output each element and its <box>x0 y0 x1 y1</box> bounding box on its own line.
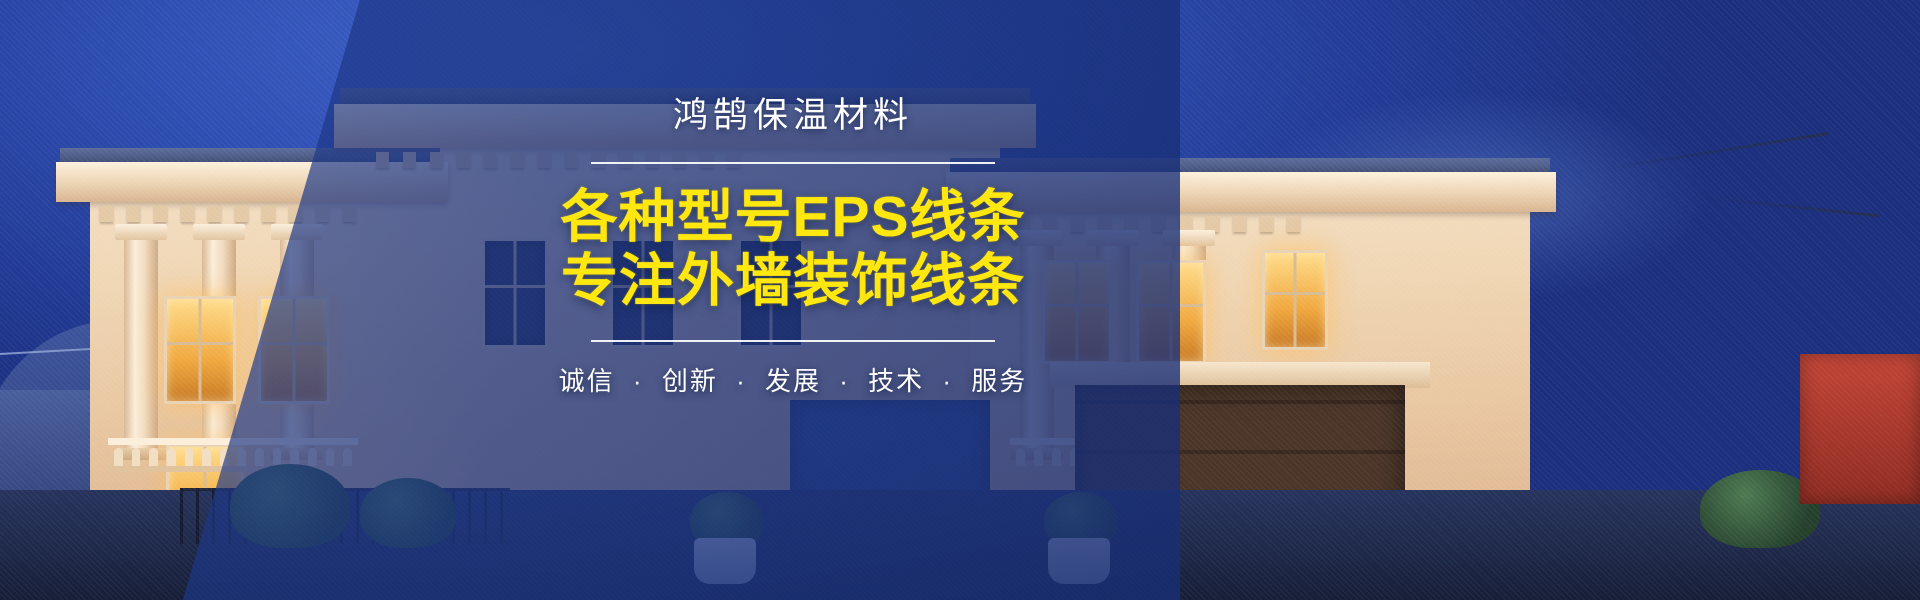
brand-name: 鸿鹄保温材料 <box>558 96 1028 136</box>
red-container <box>1800 354 1920 504</box>
cornice-left <box>56 162 448 202</box>
window-lit-6 <box>1262 250 1328 350</box>
window-lit-5 <box>1136 260 1206 364</box>
balustrade-left <box>108 438 358 472</box>
tagline-item-2: 发展 <box>765 366 821 396</box>
window-dark-1 <box>482 238 548 348</box>
headline-line-2: 专注外墙装饰线条 <box>558 250 1028 314</box>
column-left-1 <box>124 238 158 450</box>
promo-banner: 鸿鹄保温材料 各种型号EPS线条 专注外墙装饰线条 诚信 · 创新 · 发展 ·… <box>0 0 1920 600</box>
window-lit-1 <box>164 296 236 404</box>
cornice-right <box>946 172 1556 212</box>
shrub-1 <box>230 464 350 548</box>
window-lit-4 <box>1042 260 1112 364</box>
tagline-separator-2: · <box>839 366 850 396</box>
tagline-item-3: 技术 <box>868 366 924 396</box>
shrub-2 <box>360 478 456 548</box>
tagline: 诚信 · 创新 · 发展 · 技术 · 服务 <box>558 366 1028 397</box>
headline-line-1: 各种型号EPS线条 <box>558 186 1028 250</box>
window-lit-2 <box>258 296 330 404</box>
divider-bottom <box>591 340 995 342</box>
tagline-separator-1: · <box>736 366 747 396</box>
divider-top <box>591 162 995 164</box>
planter-2 <box>1048 538 1110 584</box>
planter-1 <box>694 538 756 584</box>
tagline-separator-3: · <box>942 366 953 396</box>
dentil-row-right <box>990 216 1510 232</box>
tagline-item-0: 诚信 <box>559 366 615 396</box>
tagline-separator-0: · <box>633 366 644 396</box>
tagline-item-1: 创新 <box>662 366 718 396</box>
tagline-item-4: 服务 <box>971 366 1027 396</box>
banner-copy-block: 鸿鹄保温材料 各种型号EPS线条 专注外墙装饰线条 诚信 · 创新 · 发展 ·… <box>558 96 1028 397</box>
dentil-row-left <box>100 206 420 222</box>
